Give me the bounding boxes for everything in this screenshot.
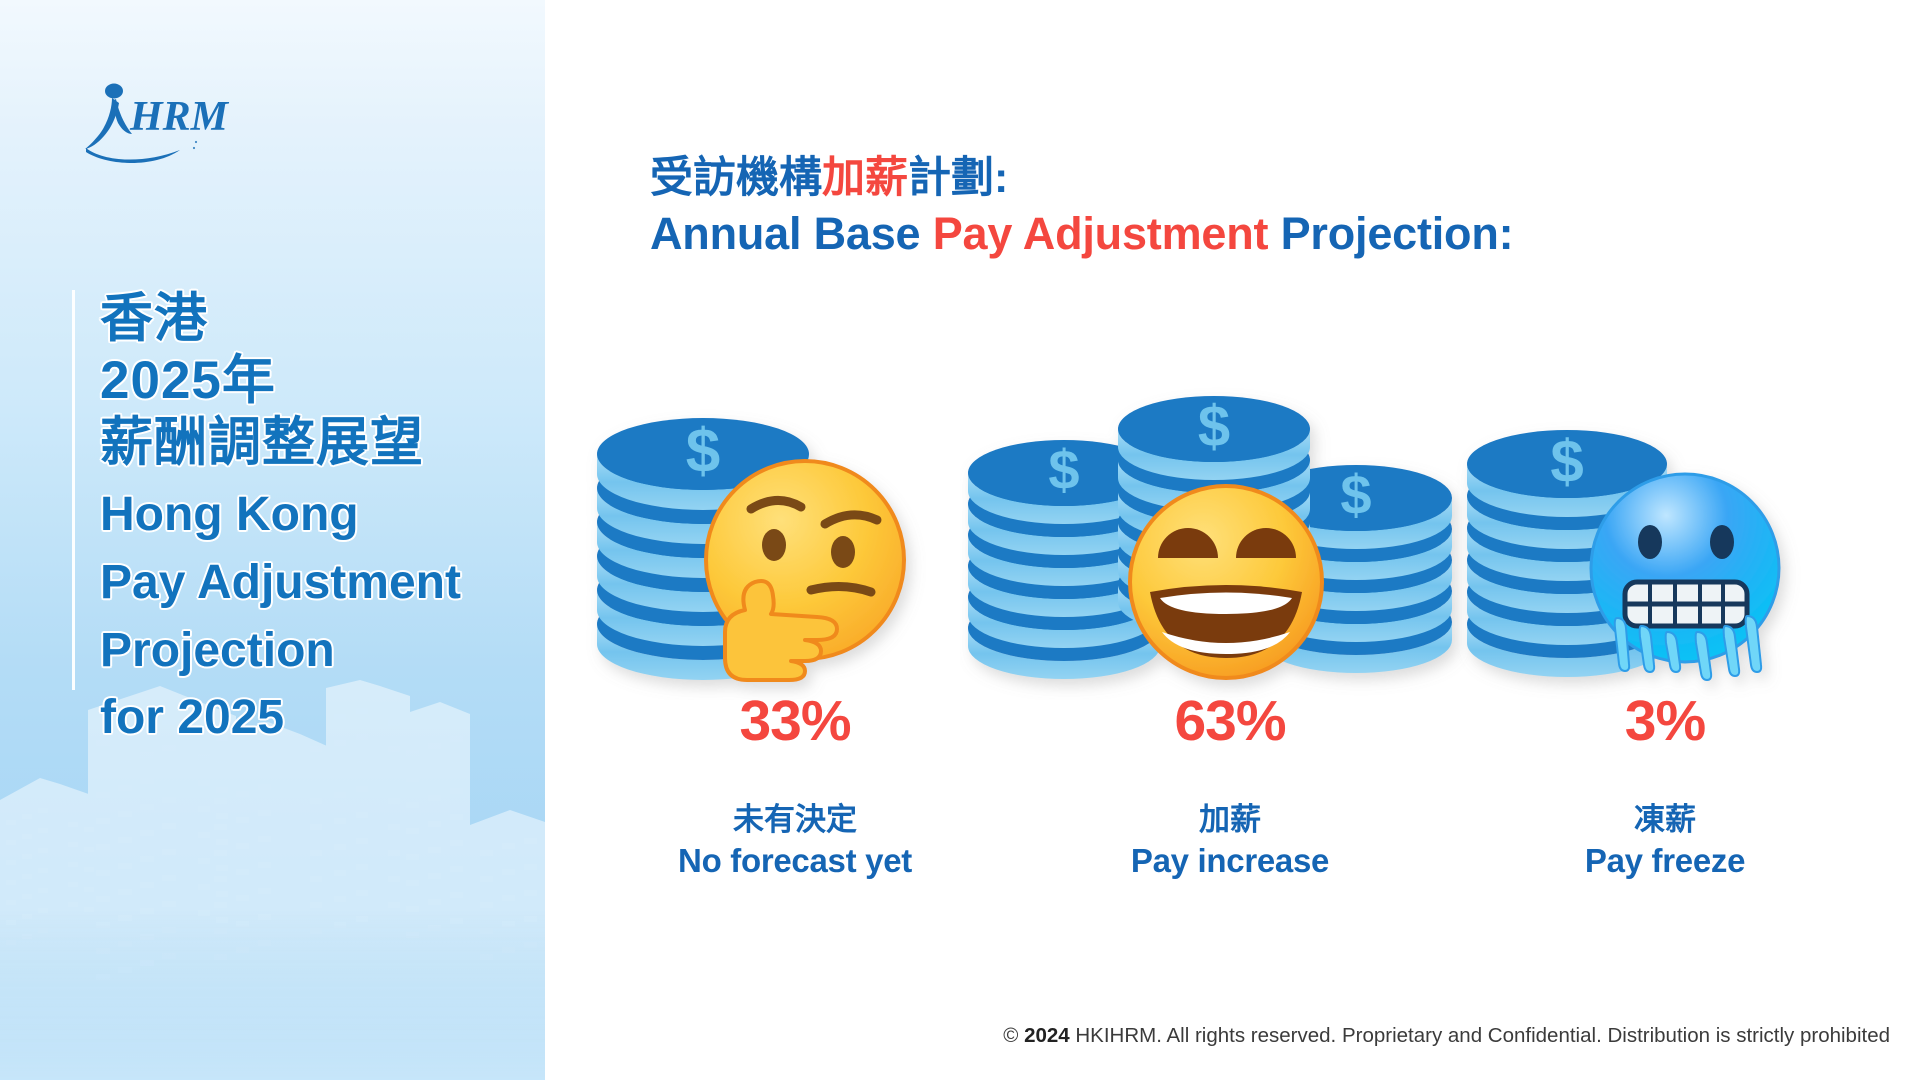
copyright-symbol: © bbox=[1003, 1024, 1018, 1047]
logo-wordmark: HRM bbox=[129, 94, 230, 140]
sidebar-title-en-line-2: Pay Adjustment bbox=[100, 556, 545, 610]
label-no-forecast: 未有決定 No forecast yet bbox=[575, 800, 1015, 882]
thinking-face-emoji bbox=[706, 461, 904, 680]
label-pay-freeze-en: Pay freeze bbox=[1445, 840, 1885, 881]
page-title: 受訪機構加薪計劃: Annual Base Pay Adjustment Pro… bbox=[650, 152, 1850, 262]
sidebar-title-en-line-3: Projection bbox=[100, 624, 545, 678]
group-pay-freeze: $ bbox=[1445, 370, 1885, 700]
sidebar-title-en-line-4: for 2025 bbox=[100, 691, 545, 745]
main-content: 受訪機構加薪計劃: Annual Base Pay Adjustment Pro… bbox=[545, 0, 1920, 1080]
page-title-cn-highlight: 加薪 bbox=[822, 154, 908, 202]
grinning-face-with-smiling-eyes-emoji bbox=[1130, 486, 1322, 678]
sidebar-title-cn-line-1: 香港 bbox=[100, 288, 545, 350]
copyright-text: HKIHRM. All rights reserved. Proprietary… bbox=[1075, 1024, 1890, 1047]
label-pay-increase: 加薪 Pay increase bbox=[960, 800, 1500, 882]
page-title-cn-part1: 受訪機構 bbox=[650, 154, 822, 202]
label-pay-increase-en: Pay increase bbox=[960, 840, 1500, 881]
group-no-forecast-art: $ bbox=[575, 370, 1015, 700]
group-pay-freeze-art: $ bbox=[1445, 370, 1885, 700]
percent-no-forecast: 33% bbox=[575, 688, 1015, 754]
dollar-sign-icon: $ bbox=[686, 417, 720, 486]
sidebar-title-cn-line-3: 薪酬調整展望 bbox=[100, 412, 545, 474]
group-pay-increase: $ bbox=[960, 370, 1500, 700]
sidebar-title-cn-line-2: 2025年 bbox=[100, 350, 545, 412]
page-title-cn-part2: 計劃: bbox=[908, 154, 1008, 202]
dollar-sign-icon: $ bbox=[1048, 438, 1079, 501]
sidebar-accent-rule bbox=[72, 290, 75, 690]
sidebar-title-block: 香港 2025年 薪酬調整展望 Hong Kong Pay Adjustment… bbox=[100, 288, 545, 745]
label-pay-freeze-cn: 凍薪 bbox=[1445, 800, 1885, 840]
sidebar: HRM 香港 2025年 薪酬調整展望 Hong Kong Pay Adjust… bbox=[0, 0, 545, 1080]
cold-face-emoji bbox=[1591, 474, 1779, 680]
sidebar-title-en-line-1: Hong Kong bbox=[100, 488, 545, 542]
dollar-sign-icon: $ bbox=[1198, 394, 1230, 459]
label-no-forecast-en: No forecast yet bbox=[575, 840, 1015, 881]
dollar-sign-icon: $ bbox=[1340, 463, 1371, 526]
coin-stacks-grinning: $ bbox=[960, 370, 1500, 700]
label-pay-freeze: 凍薪 Pay freeze bbox=[1445, 800, 1885, 882]
copyright-notice: © 2024 HKIHRM. All rights reserved. Prop… bbox=[1003, 1024, 1890, 1048]
group-pay-increase-art: $ bbox=[960, 370, 1500, 700]
hkihrm-logo[interactable]: HRM bbox=[82, 78, 262, 168]
group-no-forecast: $ bbox=[575, 370, 1015, 700]
copyright-year: 2024 bbox=[1024, 1024, 1070, 1047]
percent-pay-freeze: 3% bbox=[1445, 688, 1885, 754]
coin-stack-cold-face: $ bbox=[1445, 370, 1885, 700]
dollar-sign-icon: $ bbox=[1550, 428, 1583, 495]
page-title-cn: 受訪機構加薪計劃: bbox=[650, 152, 1850, 206]
page-title-en: Annual Base Pay Adjustment Projection: bbox=[650, 206, 1850, 262]
label-no-forecast-cn: 未有決定 bbox=[575, 800, 1015, 840]
coin-stack-thinking: $ bbox=[575, 370, 1015, 700]
page-title-en-part2: Projection: bbox=[1268, 208, 1513, 259]
page-title-en-highlight: Pay Adjustment bbox=[933, 208, 1269, 259]
pictogram-groups: $ bbox=[545, 370, 1920, 800]
category-labels: 未有決定 No forecast yet 加薪 Pay increase 凍薪 … bbox=[545, 800, 1920, 940]
percent-pay-increase: 63% bbox=[960, 688, 1500, 754]
label-pay-increase-cn: 加薪 bbox=[960, 800, 1500, 840]
page-title-en-part1: Annual Base bbox=[650, 208, 933, 259]
